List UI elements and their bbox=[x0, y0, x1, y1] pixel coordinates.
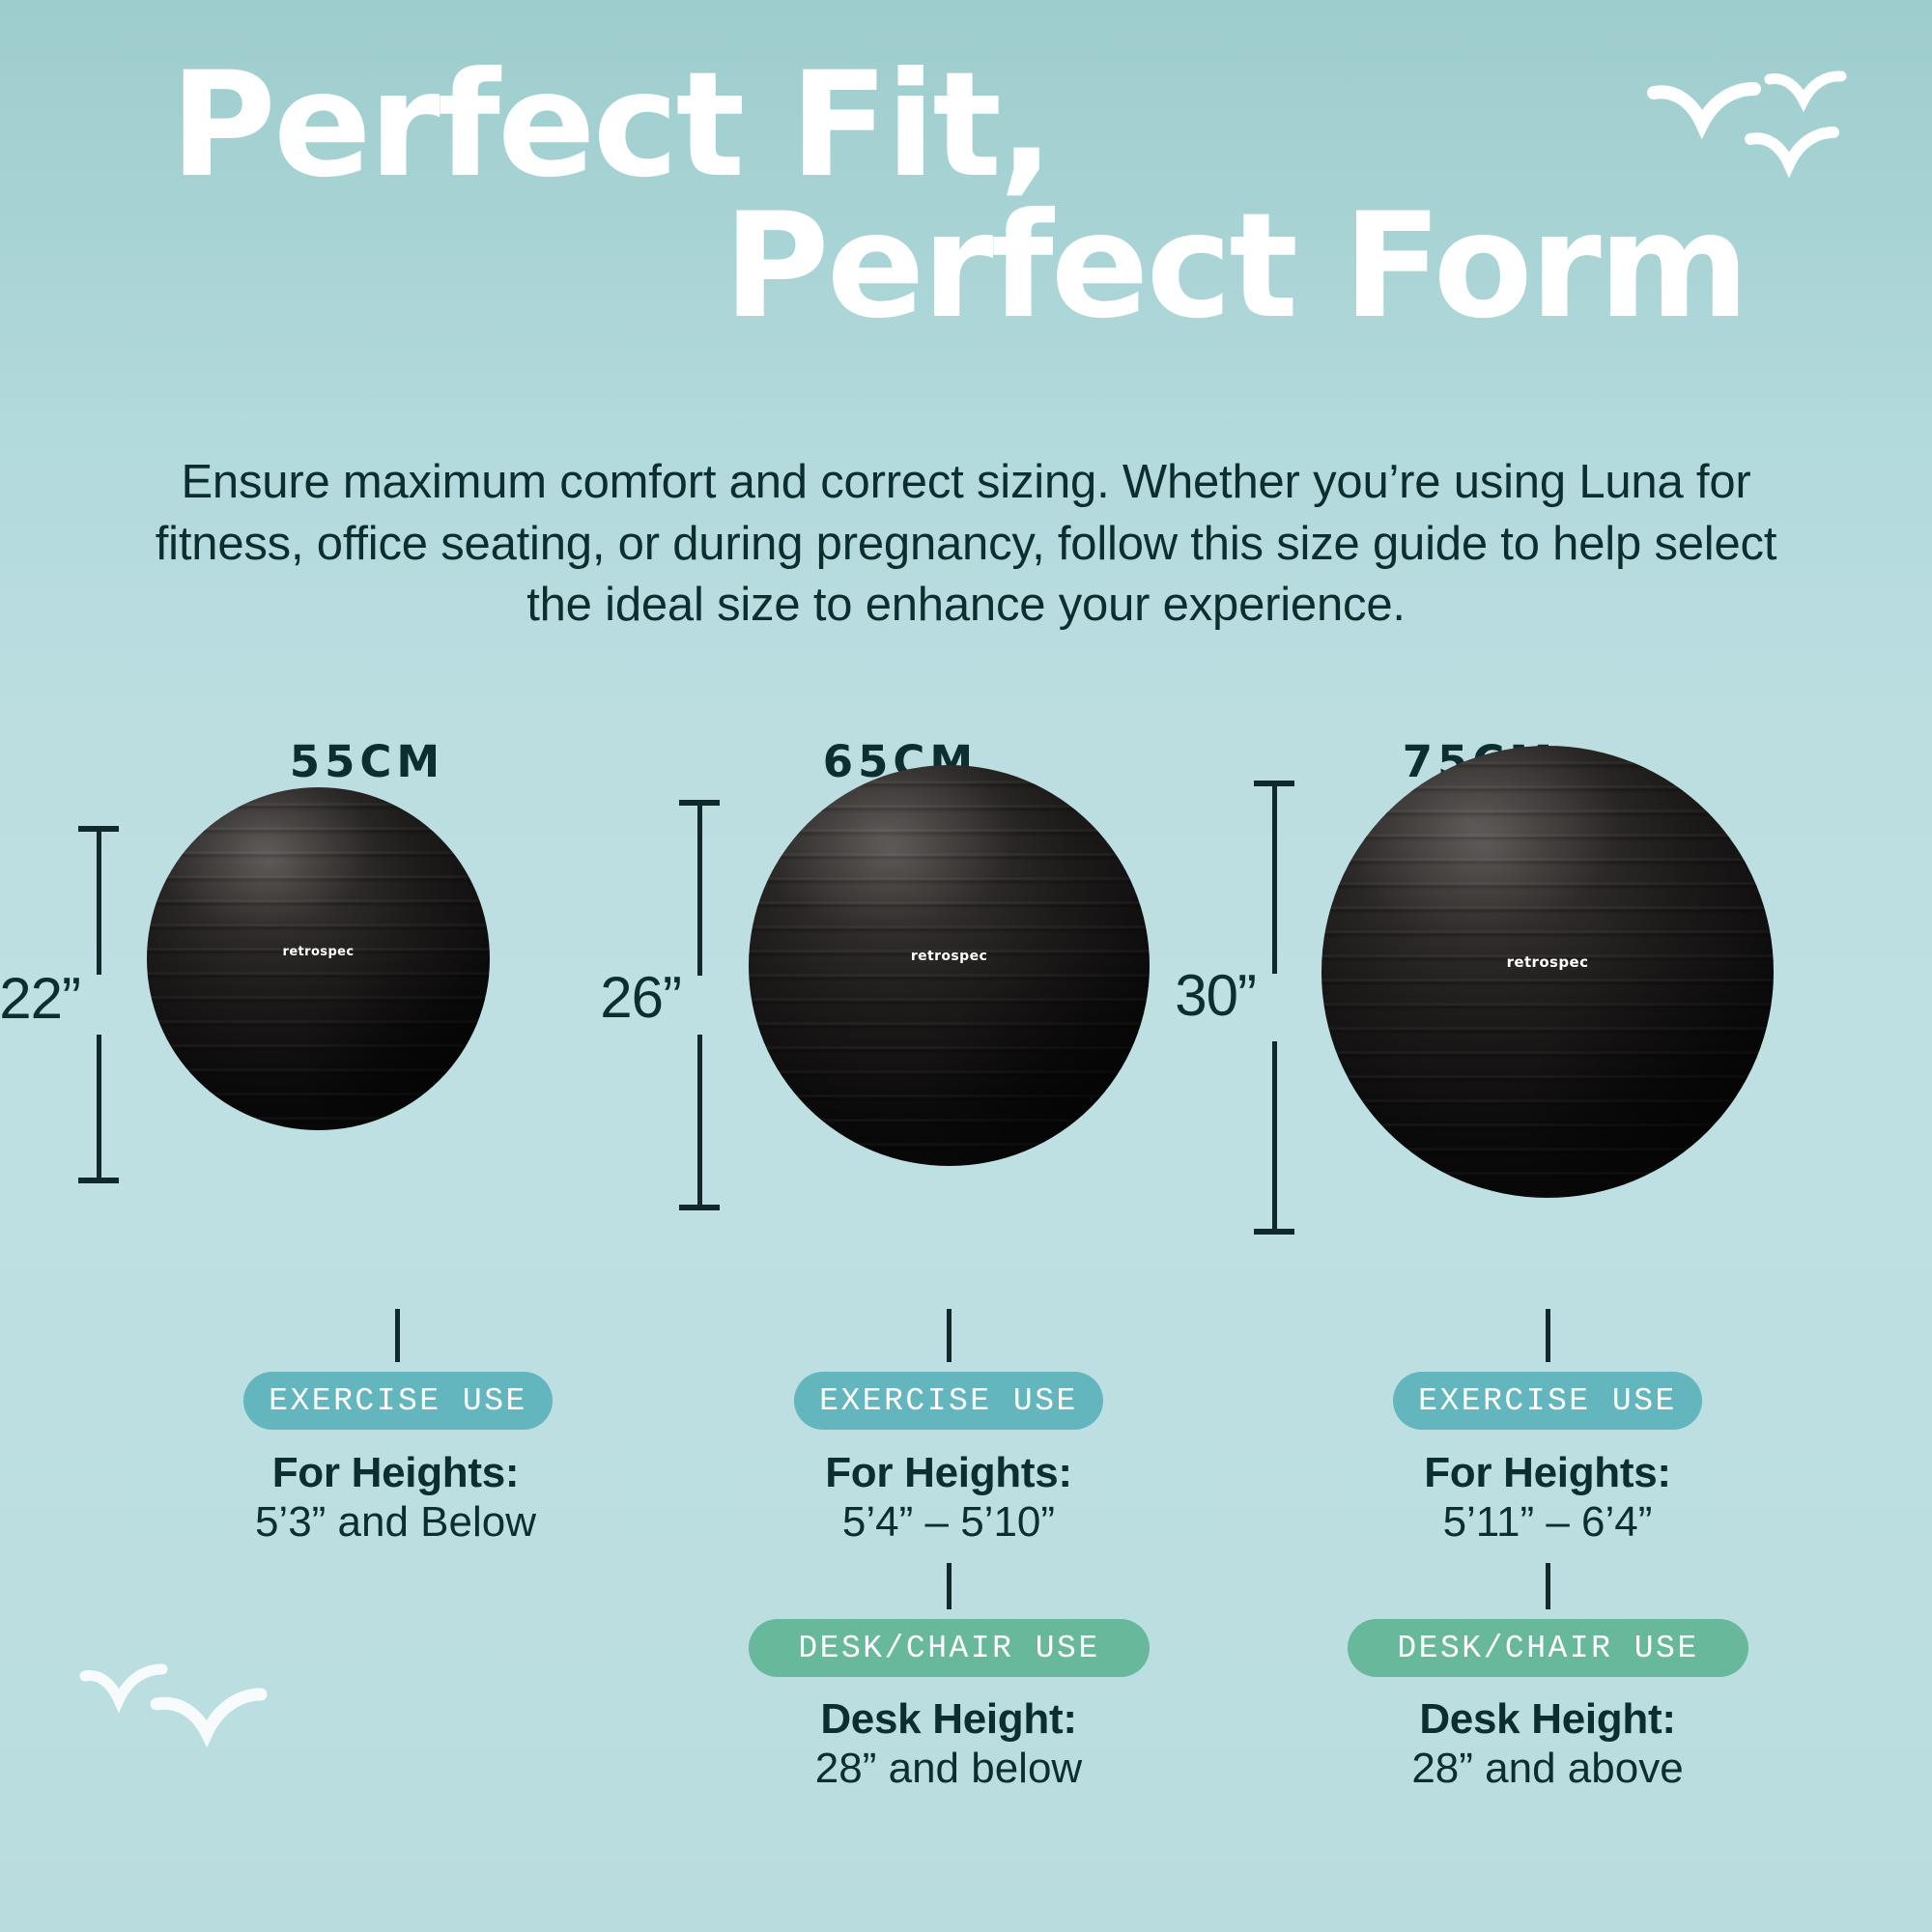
brand-logo: retrospec bbox=[1321, 953, 1774, 971]
exercise-ball-55cm: retrospec bbox=[147, 787, 490, 1130]
dimension-segment-lower bbox=[97, 1035, 101, 1179]
connector-line-75cm-exercise bbox=[1546, 1309, 1550, 1362]
badge-desk-chair-use-75cm[interactable]: DESK/CHAIR USE bbox=[1348, 1619, 1748, 1677]
dimension-segment-upper bbox=[97, 830, 101, 975]
dimension-label-55cm: 22” bbox=[0, 965, 80, 1032]
dimension-line-55cm: 22” bbox=[97, 826, 101, 1183]
heights-heading-75cm: For Heights: bbox=[1296, 1449, 1799, 1497]
exercise-ball-75cm: retrospec bbox=[1321, 746, 1774, 1198]
badge-exercise-use-55cm[interactable]: EXERCISE USE bbox=[243, 1372, 553, 1430]
desk-heading-65cm: Desk Height: bbox=[697, 1695, 1200, 1744]
desk-info-75cm: Desk Height: 28” and above bbox=[1296, 1695, 1799, 1793]
connector-line-75cm-desk bbox=[1546, 1563, 1550, 1609]
desk-info-65cm: Desk Height: 28” and below bbox=[697, 1695, 1200, 1793]
dimension-segment-upper bbox=[1272, 784, 1277, 974]
heights-heading-65cm: For Heights: bbox=[697, 1449, 1200, 1497]
size-label-55cm: 55CM bbox=[251, 736, 483, 787]
heights-value-55cm: 5’3” and Below bbox=[147, 1497, 644, 1547]
size-guide-columns: 55CM 22” retrospec EXERCISE USE For Heig… bbox=[0, 0, 1932, 1932]
connector-line-65cm-desk bbox=[947, 1563, 952, 1609]
heights-info-65cm: For Heights: 5’4” – 5’10” bbox=[697, 1449, 1200, 1547]
dimension-segment-lower bbox=[1272, 1041, 1277, 1231]
desk-heading-75cm: Desk Height: bbox=[1296, 1695, 1799, 1744]
desk-value-75cm: 28” and above bbox=[1296, 1744, 1799, 1793]
heights-info-75cm: For Heights: 5’11” – 6’4” bbox=[1296, 1449, 1799, 1547]
ball-highlight bbox=[749, 765, 1150, 1166]
dimension-line-65cm: 26” bbox=[697, 800, 702, 1210]
brand-logo: retrospec bbox=[147, 945, 490, 959]
dimension-line-75cm: 30” bbox=[1272, 781, 1277, 1235]
dimension-segment-upper bbox=[697, 804, 702, 976]
connector-line-55cm-exercise bbox=[395, 1309, 400, 1362]
exercise-ball-65cm: retrospec bbox=[749, 765, 1150, 1166]
heights-info-55cm: For Heights: 5’3” and Below bbox=[147, 1449, 644, 1547]
desk-value-65cm: 28” and below bbox=[697, 1744, 1200, 1793]
heights-value-75cm: 5’11” – 6’4” bbox=[1296, 1497, 1799, 1547]
badge-exercise-use-65cm[interactable]: EXERCISE USE bbox=[794, 1372, 1103, 1430]
brand-logo: retrospec bbox=[749, 949, 1150, 964]
heights-heading-55cm: For Heights: bbox=[147, 1449, 644, 1497]
badge-desk-chair-use-65cm[interactable]: DESK/CHAIR USE bbox=[749, 1619, 1150, 1677]
ball-highlight bbox=[1321, 746, 1774, 1198]
heights-value-65cm: 5’4” – 5’10” bbox=[697, 1497, 1200, 1547]
badge-exercise-use-75cm[interactable]: EXERCISE USE bbox=[1393, 1372, 1702, 1430]
connector-line-65cm-exercise bbox=[947, 1309, 952, 1362]
dimension-label-75cm: 30” bbox=[1175, 962, 1256, 1029]
dimension-segment-lower bbox=[697, 1035, 702, 1207]
dimension-label-65cm: 26” bbox=[600, 964, 681, 1031]
